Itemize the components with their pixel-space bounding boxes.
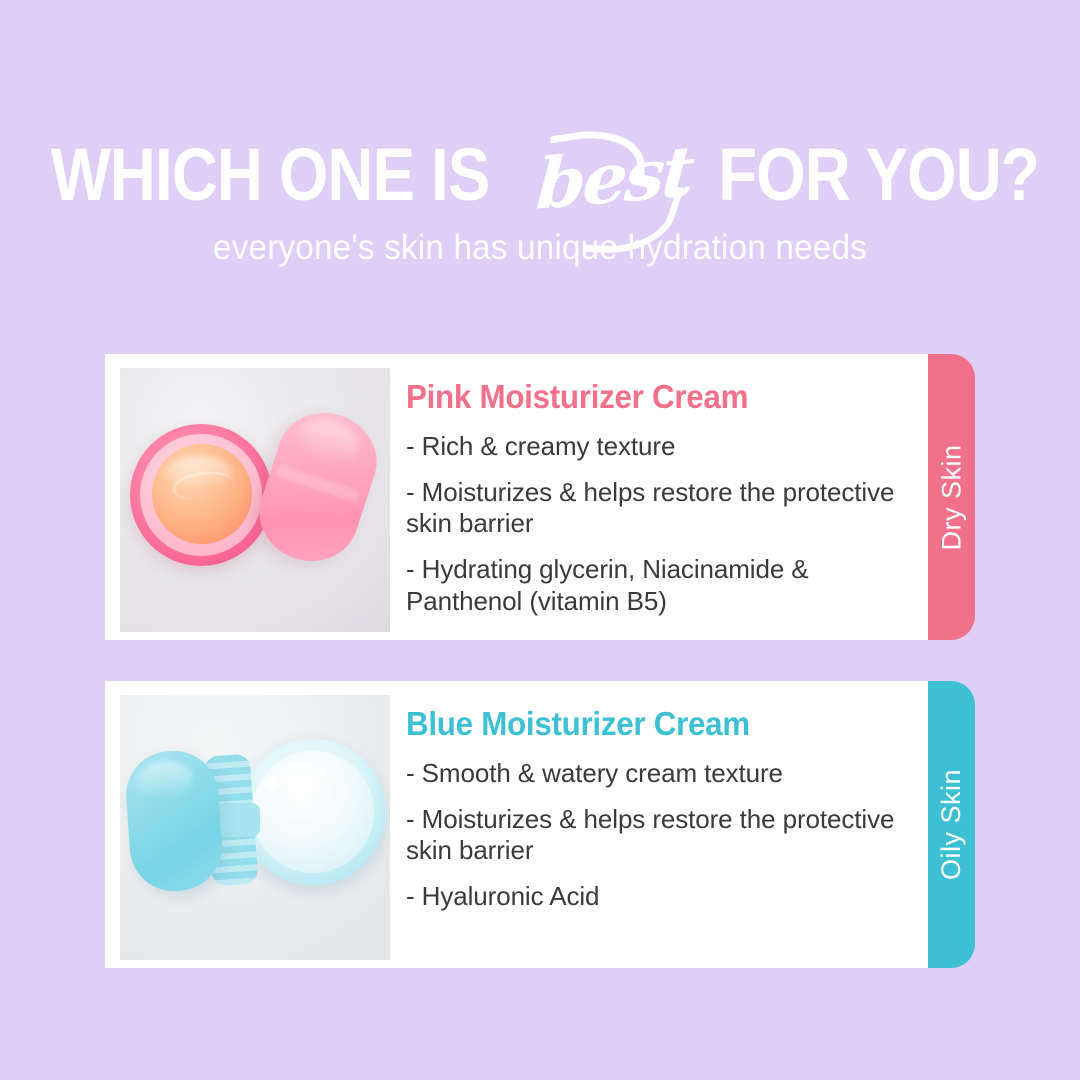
side-tab-dry-skin[interactable]: Dry Skin <box>928 354 975 640</box>
pink-bullet-3: - Hydrating glycerin, Niacinamide & Pant… <box>406 554 904 617</box>
blue-cream-icon <box>252 751 374 873</box>
pink-card-title: Pink Moisturizer Cream <box>406 380 879 413</box>
blue-jar-lid-icon <box>123 748 225 894</box>
pink-bullet-1: - Rich & creamy texture <box>406 431 904 463</box>
blue-card-title: Blue Moisturizer Cream <box>406 707 879 740</box>
pink-bullet-2: - Moisturizes & helps restore the protec… <box>406 477 904 540</box>
infographic-stage: WHICH ONE ISbestFOR YOU? everyone's skin… <box>0 0 1080 1080</box>
side-tab-oily-skin-label: Oily Skin <box>936 769 967 880</box>
page-subtitle: everyone's skin has unique hydration nee… <box>27 228 1053 268</box>
blue-bullet-3: - Hyaluronic Acid <box>406 881 904 913</box>
side-tab-dry-skin-label: Dry Skin <box>936 444 967 550</box>
headline-script-text: best <box>534 130 695 226</box>
blue-jar-neck-icon <box>216 803 260 837</box>
headline-part-2: FOR YOU? <box>718 138 1039 212</box>
pink-jar-photo <box>120 368 390 632</box>
product-card-pink[interactable]: Pink Moisturizer Cream - Rich & creamy t… <box>105 354 928 640</box>
side-tab-oily-skin[interactable]: Oily Skin <box>928 681 975 968</box>
blue-jar-photo <box>120 695 390 960</box>
pink-card-body: Pink Moisturizer Cream - Rich & creamy t… <box>390 354 928 640</box>
blue-card-body: Blue Moisturizer Cream - Smooth & watery… <box>390 681 928 968</box>
product-card-blue[interactable]: Blue Moisturizer Cream - Smooth & watery… <box>105 681 928 968</box>
blue-cream-bubble-icon <box>264 777 278 791</box>
headline-part-1: WHICH ONE IS <box>51 138 490 212</box>
blue-bullet-2: - Moisturizes & helps restore the protec… <box>406 804 904 867</box>
header: WHICH ONE ISbestFOR YOU? everyone's skin… <box>0 0 1080 300</box>
headline-script-word: best <box>534 137 694 220</box>
pink-cream-icon <box>152 444 252 544</box>
page-title: WHICH ONE ISbestFOR YOU? <box>0 138 1080 212</box>
blue-bullet-1: - Smooth & watery cream texture <box>406 758 904 790</box>
